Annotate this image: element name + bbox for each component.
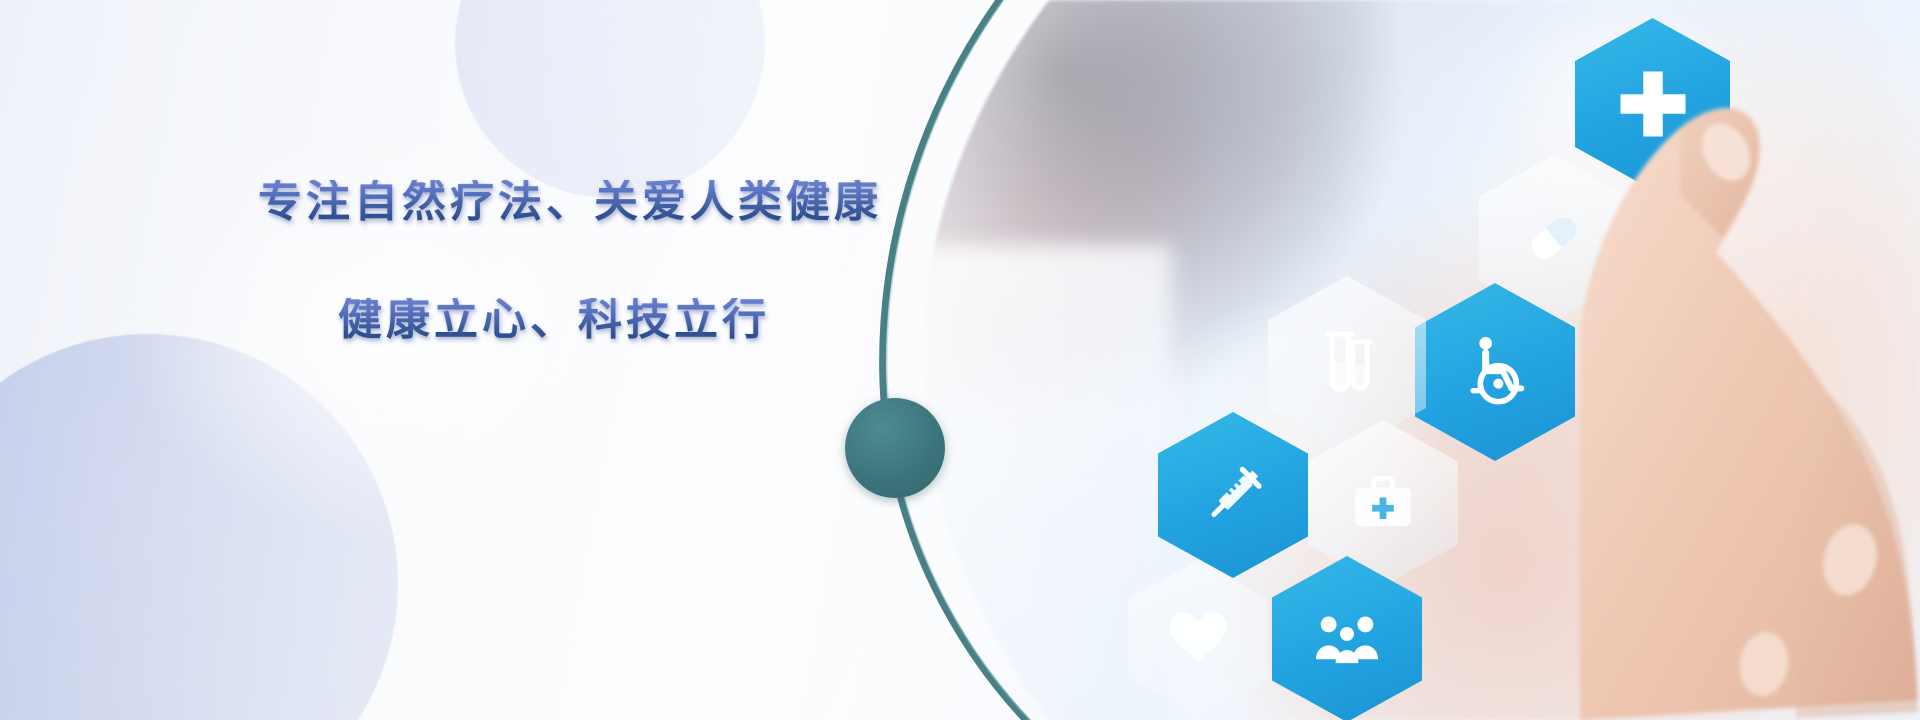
headline-line-1: 专注自然疗法、关爱人类健康 [258,180,898,224]
doctor-photo-panel [820,0,1920,720]
headline-line-2: 健康立心、科技立行 [338,298,898,342]
headline-block: 专注自然疗法、关爱人类健康 健康立心、科技立行 [258,180,898,342]
health-banner: 专注自然疗法、关爱人类健康 健康立心、科技立行 [0,0,1920,720]
bottom-lavender-circle [0,334,398,720]
photo-sheen [820,0,1920,720]
top-lavender-circle [455,0,765,198]
teal-node-dot [845,398,945,498]
photo-mask [820,0,1920,720]
